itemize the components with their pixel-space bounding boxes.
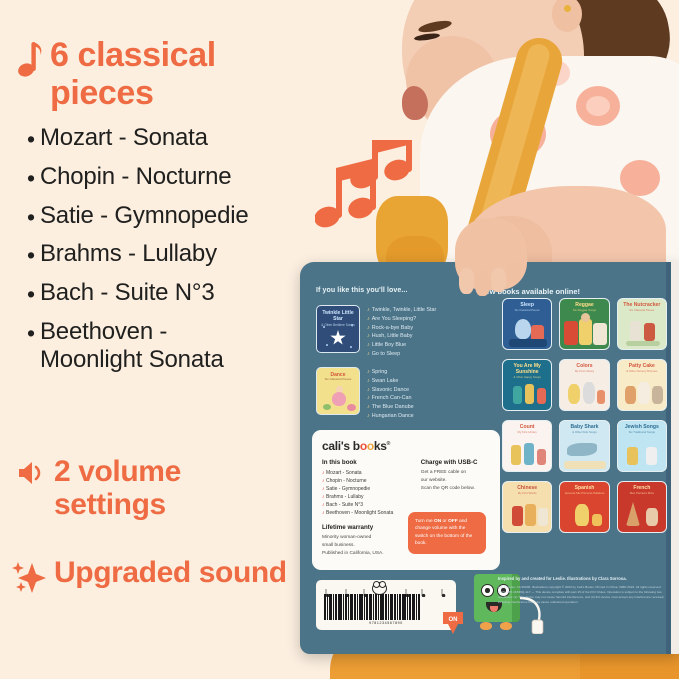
thumb-subtitle: & Other Nursery Rhymes [618,370,666,373]
track-item: ♪Bach - Suite N°3 [322,501,417,509]
feature-sound-label: Upgraded sound [54,556,287,589]
note-icon: ♪ [367,369,370,375]
barcode: 9781234567890 [316,580,456,630]
baby-hand-overlay [455,250,545,310]
thumb-subtitle: Six Classical Pieces [618,309,666,312]
fine-print-body: Los Angeles, CA 90006. Illustrations cop… [498,585,666,605]
book-thumb-jewish-songs[interactable]: Jewish Songs Six Traditional Songs [617,420,667,472]
mascot-pupil [485,588,490,593]
warranty-line: Minority woman-owned [322,534,417,542]
track-item: ♪Mozart - Sonata [322,469,417,477]
note-icon: ♪ [322,494,325,500]
svg-text:ON: ON [449,617,458,623]
thumb-subtitle: & Other Kids Songs [560,431,608,434]
note-icon: ♪ [367,351,370,357]
thumb-title: You Are My Sunshine [513,363,540,375]
cover-subtitle: Six Classical Pieces [317,378,359,382]
book-thumb-baby-shark[interactable]: Baby Shark & Other Kids Songs [559,420,609,472]
warranty-line: Published in California, USA. [322,550,417,558]
cover-title: Twinkle Little Star [322,310,353,322]
note-icon: ♪ [322,470,325,476]
book-thumb-colors[interactable]: Colors My First Library [559,359,609,411]
song-item: ♪Twinkle, Twinkle, Little Star [367,306,436,315]
sparkle-icon [12,561,46,598]
classical-pieces-list: • Mozart - Sonata • Chopin - Nocturne • … [22,124,322,385]
note-icon: ♪ [367,307,370,313]
mascot-foot [500,622,512,630]
headline-row: 6 classical pieces [18,36,308,112]
list-item: • Beethoven - Moonlight Sonata [22,318,322,374]
note-icon: ♪ [367,404,370,410]
charge-heading: Charge with USB-C [421,459,490,466]
song-item: ♪Are You Sleeping? [367,315,436,324]
thumb-subtitle: Six Traditional Songs [618,431,666,434]
grid-row: Count My First Library Baby Shark & Othe… [502,420,667,472]
shirt-floral-print [586,96,610,116]
thumb-subtitle: My First Library [560,370,608,373]
song-item: ♪Rock-a-bye Baby [367,324,436,333]
note-icon: ♪ [322,478,325,484]
feature-sound: Upgraded sound [12,556,302,598]
brand-logo: cali's books® [322,439,490,453]
bullet-icon: • [22,206,40,229]
trademark-mark: ® [387,441,390,447]
book-cover-dance[interactable]: Dance Six Classical Pieces [316,367,360,415]
song-list: ♪Twinkle, Twinkle, Little Star ♪Are You … [367,305,436,359]
bullet-icon: • [22,283,40,306]
charge-line: Scan the QR code below. [421,485,490,493]
note-icon: ♪ [322,486,325,492]
grid-row: You Are My Sunshine & Other Happy Songs … [502,359,667,411]
book-thumb-reggae[interactable]: Reggae Six Reggae Songs [559,298,609,350]
song-list: ♪Spring ♪Swan Lake ♪Slavonic Dance ♪Fren… [367,367,414,421]
book-thumb-nutcracker[interactable]: The Nutcracker Six Classical Pieces [617,298,667,350]
book-thumb-spanish[interactable]: Spanish Aprende Mis Primeras Palabras [559,481,609,533]
thumb-subtitle: & Other Happy Songs [503,376,551,379]
song-item: ♪Little Boy Blue [367,341,436,350]
book-thumb-count[interactable]: Count My First Library [502,420,552,472]
product-infographic: If you like this you'll love... New book… [0,0,679,679]
note-icon: ♪ [367,333,370,339]
bullet-icon: • [22,244,40,267]
callout-text-1: Turn me [415,519,434,524]
book-thumb-patty-cake[interactable]: Patty Cake & Other Nursery Rhymes [617,359,667,411]
music-note-icon [18,40,44,78]
if-you-like-heading: If you like this you'll love... [316,287,408,294]
grid-row: Chinese My First Words Spanish Aprende M… [502,481,667,533]
thumb-subtitle: Mes Premiers Mots [618,492,666,495]
note-icon: ♪ [367,395,370,401]
list-item: • Bach - Suite N°3 [22,279,322,307]
book-thumb-you-are-my-sunshine[interactable]: You Are My Sunshine & Other Happy Songs [502,359,552,411]
bullet-icon: • [22,322,40,345]
on-arrow-badge: ON [440,610,466,636]
note-icon: ♪ [322,510,325,516]
song-item: ♪Hungarian Dance [367,412,414,421]
track-item: ♪Brahms - Lullaby [322,493,417,501]
fine-print: Inspired by and created for Leslie. Illu… [498,576,666,605]
list-item: • Mozart - Sonata [22,124,322,152]
list-item: • Brahms - Lullaby [22,240,322,268]
barcode-number: 9781234567890 [316,621,456,625]
list-item-label: Chopin - Nocturne [40,163,231,191]
in-this-book-heading: In this book [322,459,417,466]
baby-earring [564,5,571,12]
callout-off: OFF [448,519,458,524]
bullet-icon: • [22,128,40,151]
speaker-volume-icon [16,460,46,491]
mascot-foot [480,622,492,630]
note-icon: ♪ [367,325,370,331]
song-item: ♪The Blue Danube [367,403,414,412]
list-item-label: Mozart - Sonata [40,124,208,152]
song-item: ♪French Can-Can [367,394,414,403]
fine-print-heading: Inspired by and created for Leslie. Illu… [498,576,666,582]
thumb-subtitle: Six Reggae Songs [560,309,608,312]
note-icon: ♪ [367,378,370,384]
shirt-floral-print [620,160,660,196]
music-notes-icon [315,140,425,240]
list-item: • Chopin - Nocturne [22,163,322,191]
feature-volume-label: 2 volume settings [54,455,296,521]
page-title: 6 classical pieces [50,36,308,112]
thumb-subtitle: My First Words [503,492,551,495]
note-icon: ♪ [367,413,370,419]
feature-list-panel: 6 classical pieces • Mozart - Sonata • C… [0,0,320,679]
star-icon [330,330,346,346]
feature-volume: 2 volume settings [16,455,296,521]
thumb-subtitle: My First Library [503,431,551,434]
charge-line: our website. [421,477,490,485]
track-item: ♪Satie - Gymnopedie [322,485,417,493]
book-spine-pages [671,262,679,654]
power-switch-callout: Turn me ON or OFF and change volume with… [408,512,486,554]
song-item: ♪Spring [367,368,414,377]
note-icon: ♪ [367,342,370,348]
note-icon: ♪ [322,502,325,508]
book-back-cover: If you like this you'll love... New book… [300,262,679,654]
related-book-block[interactable]: Twinkle Little Star & Other Bedtime Song… [316,305,436,359]
book-cover-twinkle-little-star[interactable]: Twinkle Little Star & Other Bedtime Song… [316,305,360,353]
list-item-label: Bach - Suite N°3 [40,279,214,307]
charge-line: Get a FREE cable on [421,469,490,477]
note-icon: ♪ [367,387,370,393]
thumb-subtitle: Aprende Mis Primeras Palabras [560,492,608,495]
bullet-icon: • [22,167,40,190]
track-item: ♪Chopin - Nocturne [322,477,417,485]
track-item: ♪Beethoven - Moonlight Sonata [322,509,417,517]
barcode-lines [324,594,448,620]
song-item: ♪Hush, Little Baby [367,332,436,341]
song-item: ♪Slavonic Dance [367,386,414,395]
related-book-block[interactable]: Dance Six Classical Pieces ♪Spring ♪Swan… [316,367,414,421]
baby-mouth [402,86,428,120]
note-icon: ♪ [367,316,370,322]
list-item-label: Brahms - Lullaby [40,240,217,268]
list-item-label: Satie - Gymnopedie [40,202,249,230]
related-books-grid: Sleep Six Classical Pieces Reggae Six Re… [502,298,667,542]
song-item: ♪Swan Lake [367,377,414,386]
list-item: • Satie - Gymnopedie [22,202,322,230]
warranty-line: small business. [322,542,417,550]
song-item: ♪Go to Sleep [367,350,436,359]
book-thumb-french[interactable]: French Mes Premiers Mots [617,481,667,533]
dancer-tutu [332,392,346,406]
list-item-label: Beethoven - Moonlight Sonata [40,318,270,374]
book-thumb-chinese[interactable]: Chinese My First Words [502,481,552,533]
